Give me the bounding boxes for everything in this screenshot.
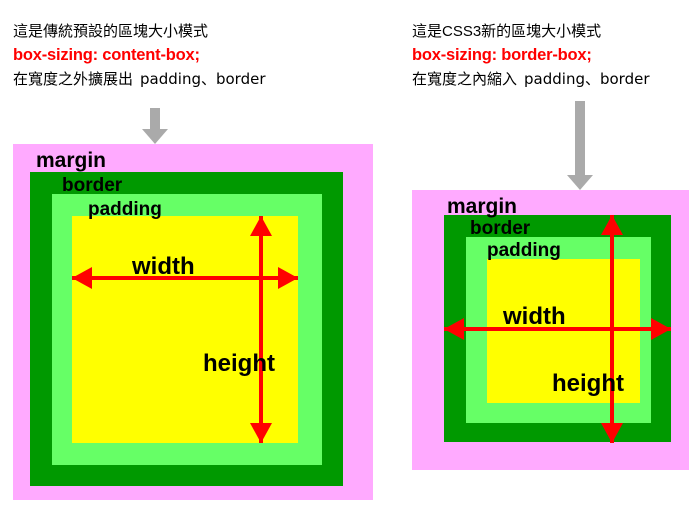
down-arrow-icon-left xyxy=(142,108,168,144)
caption-content-box: 這是傳統預設的區塊大小模式 box-sizing: content-box; 在… xyxy=(13,22,266,89)
caption-code-border-box: box-sizing: border-box; xyxy=(412,45,650,67)
arrow-shaft xyxy=(150,108,160,131)
height-arrow-content-box xyxy=(250,216,272,443)
label-height-right: height xyxy=(552,372,624,396)
arrow-line xyxy=(259,216,263,443)
arrow-head-up xyxy=(250,216,272,236)
label-width-left: width xyxy=(132,255,195,279)
arrow-head-right xyxy=(278,267,298,289)
label-margin-left: margin xyxy=(36,150,106,171)
arrow-head-up xyxy=(601,215,623,235)
arrow-head xyxy=(567,175,593,190)
height-arrow-border-box xyxy=(601,215,623,443)
caption-line-3-prefix: 在寬度之外擴展出 xyxy=(13,71,133,88)
arrow-head-down xyxy=(250,423,272,443)
label-border-left: border xyxy=(62,176,122,195)
arrow-head xyxy=(142,129,168,144)
caption-line-3-props: padding、border xyxy=(140,70,265,88)
caption-line-3: 在寬度之外擴展出padding、border xyxy=(13,70,266,90)
label-border-right: border xyxy=(470,219,530,238)
label-padding-left: padding xyxy=(88,200,162,219)
caption-code-content-box: box-sizing: content-box; xyxy=(13,45,266,67)
label-padding-right: padding xyxy=(487,241,561,260)
arrow-head-right xyxy=(651,318,671,340)
arrow-head-left xyxy=(72,267,92,289)
arrow-head-down xyxy=(601,423,623,443)
arrow-line xyxy=(610,215,614,443)
caption-border-box: 這是CSS3新的區塊大小模式 box-sizing: border-box; 在… xyxy=(412,22,650,89)
arrow-head-left xyxy=(444,318,464,340)
label-width-right: width xyxy=(503,305,566,329)
label-height-left: height xyxy=(203,352,275,376)
down-arrow-icon-right xyxy=(567,101,593,190)
caption-line-1: 這是傳統預設的區塊大小模式 xyxy=(13,22,266,42)
arrow-shaft xyxy=(575,101,585,177)
caption-line-3: 在寬度之內縮入padding、border xyxy=(412,70,650,90)
caption-line-1: 這是CSS3新的區塊大小模式 xyxy=(412,22,650,42)
caption-line-3-prefix: 在寬度之內縮入 xyxy=(412,71,517,88)
label-margin-right: margin xyxy=(447,196,517,217)
caption-line-3-props: padding、border xyxy=(524,70,649,88)
